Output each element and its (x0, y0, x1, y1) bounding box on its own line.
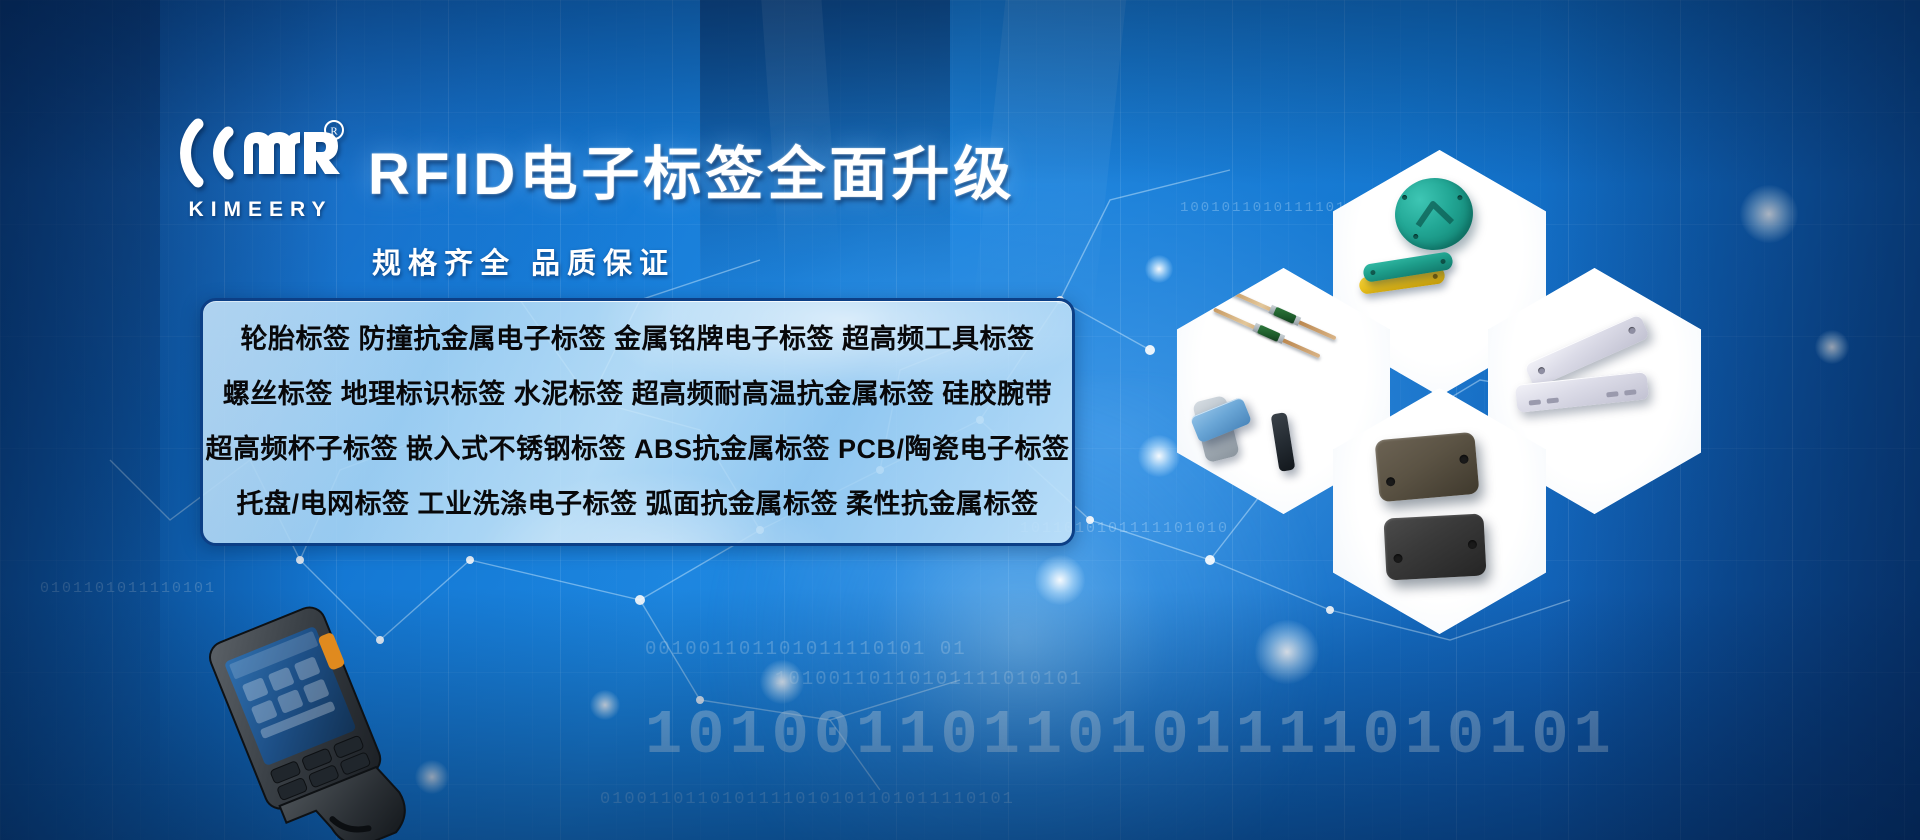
dark-rugged-tag-b (1383, 513, 1486, 580)
rfid-promo-banner: 001001101101011110101 01 101001101101011… (0, 0, 1920, 840)
banner-headline: RFID电子标签全面升级 (368, 127, 1015, 211)
banner-subheadline: 规格齐全 品质保证 (372, 240, 675, 282)
dark-rugged-tag-a (1374, 432, 1479, 502)
product-hexagon-cluster (1155, 150, 1855, 670)
handheld-rfid-reader (195, 600, 455, 840)
product-list-row: 托盘/电网标签 工业洗涤电子标签 弧面抗金属标签 柔性抗金属标签 (203, 477, 1072, 532)
product-list-panel: 轮胎标签 防撞抗金属电子标签 金属铭牌电子标签 超高频工具标签 螺丝标签 地理标… (200, 298, 1075, 546)
product-list-row: 螺丝标签 地理标识标签 水泥标签 超高频耐高温抗金属标签 硅胶腕带 (203, 367, 1072, 422)
kimeery-wave-logo-icon: R (170, 116, 345, 190)
registered-mark-text: R (330, 126, 338, 138)
brand-logo-block[interactable]: R KIMEERY (162, 116, 352, 222)
chevron-up-icon (1411, 196, 1456, 232)
brand-name-text: KIMEERY (162, 198, 352, 222)
product-list-row: 轮胎标签 防撞抗金属电子标签 金属铭牌电子标签 超高频工具标签 (203, 312, 1072, 367)
product-list-row: 超高频杯子标签 嵌入式不锈钢标签 ABS抗金属标签 PCB/陶瓷电子标签 (203, 422, 1072, 477)
banner-content: R KIMEERY RFID电子标签全面升级 规格齐全 品质保证 轮胎标签 防撞… (0, 0, 1130, 840)
